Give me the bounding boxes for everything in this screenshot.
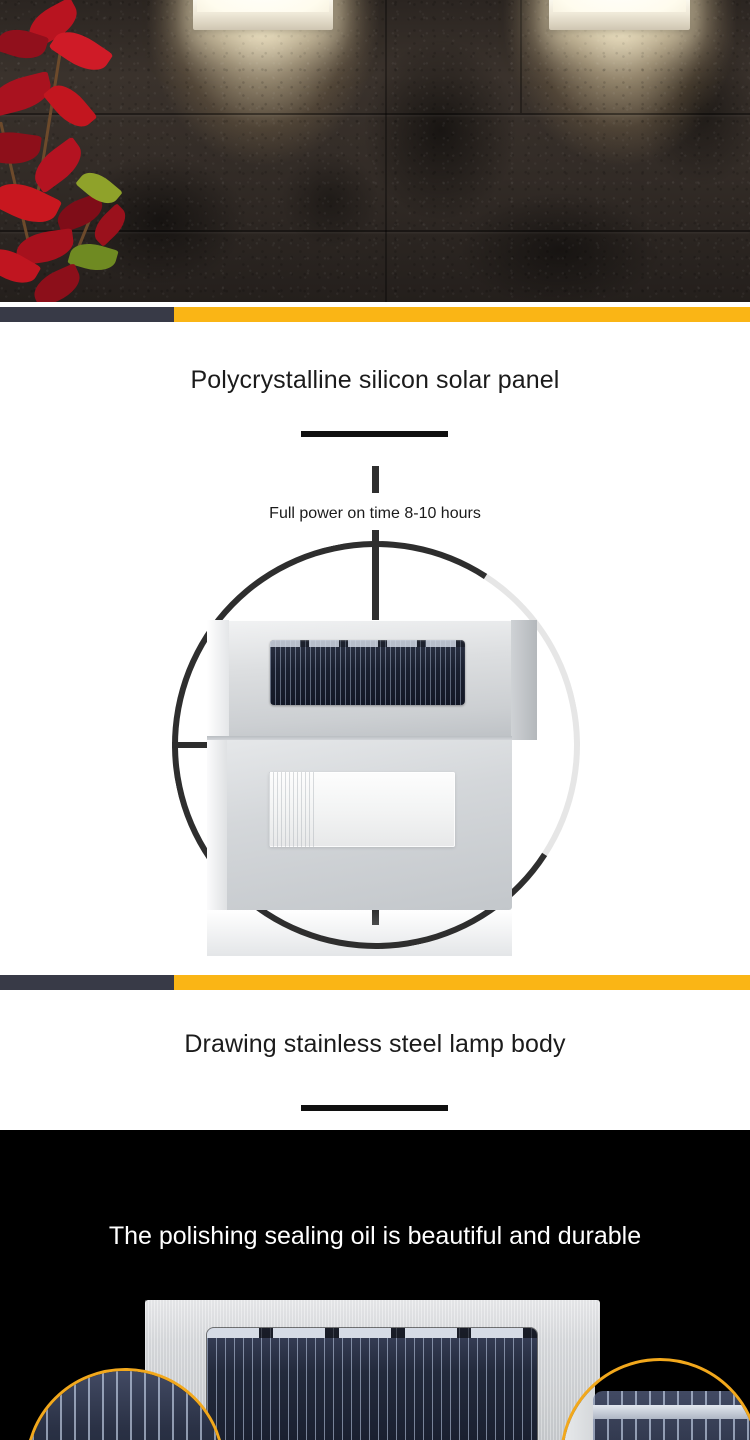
divider-dark-segment [0,307,174,322]
wall-vertical-joint [520,0,522,113]
solar-stair-light-product-image [207,620,537,910]
divider-1 [0,307,750,322]
magnified-solar-cell [25,1371,225,1440]
lamp-body-heading-rule [301,1105,448,1111]
solar-heading-rule [301,431,448,437]
hero-photo [0,0,750,302]
wall-lamp-right [549,0,690,30]
magnifier-right [560,1358,750,1440]
wall-lamp-left [193,0,333,30]
section-polishing-heading: The polishing sealing oil is beautiful a… [0,1222,750,1251]
light-diffuser-lens [269,772,455,847]
polycrystalline-cell-closeup [207,1328,537,1440]
ivy-leaf [0,128,42,168]
divider-dark-segment [0,975,174,990]
magnifier-right-content [563,1361,750,1440]
product-top-housing [207,620,537,740]
red-ivy-foliage [0,0,146,302]
product-detail-page: Polycrystalline silicon solar panel Full… [0,0,750,1440]
wall-vertical-joint [385,0,387,302]
magnified-solar-cell-corner [593,1391,750,1440]
section-lamp-body-heading: Drawing stainless steel lamp body [0,1030,750,1059]
diagram-tick-top [372,466,379,493]
full-power-label: Full power on time 8-10 hours [0,503,750,525]
divider-2 [0,975,750,990]
solar-panel-cell [270,640,465,705]
magnifier-left [25,1368,225,1440]
divider-yellow-segment [174,975,750,990]
divider-yellow-segment [174,307,750,322]
magnifier-left-content [28,1371,222,1440]
magnified-steel-side [560,1361,595,1440]
section-solar-panel-heading: Polycrystalline silicon solar panel [0,366,750,395]
